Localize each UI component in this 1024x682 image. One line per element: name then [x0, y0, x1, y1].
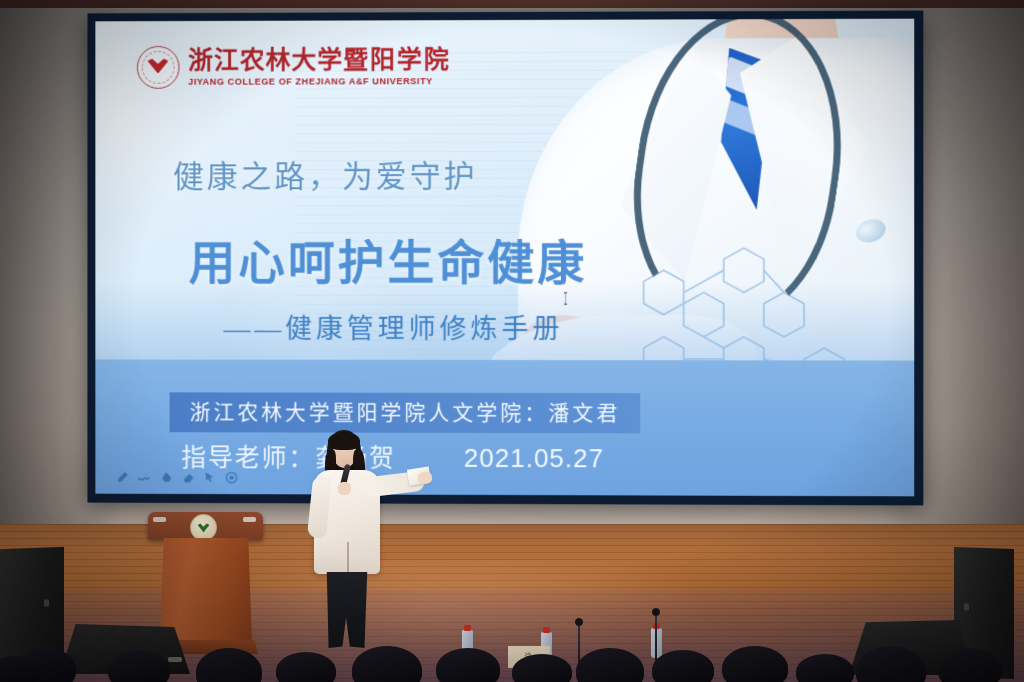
pen-icon[interactable]	[116, 471, 129, 484]
logo-english-name: JIYANG COLLEGE OF ZHEJIANG A&F UNIVERSIT…	[188, 77, 451, 87]
slide-subline: ——健康管理师修炼手册	[224, 307, 564, 346]
audience-head	[796, 654, 854, 682]
audience-head	[722, 646, 788, 682]
presenter-figure	[300, 430, 430, 655]
presenter-fringe	[328, 432, 360, 450]
highlighter-icon[interactable]	[138, 471, 151, 484]
eraser-icon[interactable]	[182, 471, 195, 484]
presenter-legs	[324, 572, 370, 648]
text-ibeam-cursor	[561, 292, 570, 305]
ink-color-icon[interactable]	[160, 471, 173, 484]
projection-screen-frame: 浙江农林大学暨阳学院 JIYANG COLLEGE OF ZHEJIANG A&…	[87, 11, 923, 506]
podium-emblem-icon	[190, 514, 217, 541]
auditorium-scene: 浙江农林大学暨阳学院 JIYANG COLLEGE OF ZHEJIANG A&…	[0, 0, 1024, 682]
slide-credit-row: 指导老师：龚杨贺 2021.05.27	[181, 439, 770, 477]
audience-head	[652, 650, 714, 682]
slide-kicker: 健康之路，为爱守护	[173, 151, 477, 196]
ppt-annotation-toolbar[interactable]	[116, 471, 238, 484]
slide-date: 2021.05.27	[464, 443, 604, 474]
laser-pointer-icon[interactable]	[225, 471, 238, 484]
university-logo: 浙江农林大学暨阳学院 JIYANG COLLEGE OF ZHEJIANG A&…	[137, 45, 451, 89]
audience-head	[108, 650, 170, 682]
audience-head	[512, 654, 572, 682]
slide-author-text: 浙江农林大学暨阳学院人文学院：潘文君	[190, 401, 621, 426]
slide-author-band: 浙江农林大学暨阳学院人文学院：潘文君	[170, 393, 641, 434]
podium-cap-right	[243, 517, 256, 522]
audience-head	[276, 652, 336, 682]
audience-head	[938, 648, 1002, 682]
presenter-hand-left	[338, 482, 351, 495]
pointer-icon[interactable]	[204, 471, 217, 484]
university-seal-icon	[137, 46, 180, 89]
logo-chinese-name: 浙江农林大学暨阳学院	[188, 47, 451, 74]
podium-cap-left	[153, 517, 166, 522]
table-microphone	[655, 614, 657, 662]
table-microphone	[578, 624, 580, 664]
audience-head	[436, 648, 500, 682]
slide-headline: 用心呵护生命健康	[189, 224, 588, 293]
phoenix-emblem-icon	[148, 59, 169, 74]
presenter-coat-vent	[347, 542, 349, 572]
projection-screen-surface: 浙江农林大学暨阳学院 JIYANG COLLEGE OF ZHEJIANG A&…	[95, 19, 914, 497]
presentation-slide: 浙江农林大学暨阳学院 JIYANG COLLEGE OF ZHEJIANG A&…	[95, 19, 914, 497]
